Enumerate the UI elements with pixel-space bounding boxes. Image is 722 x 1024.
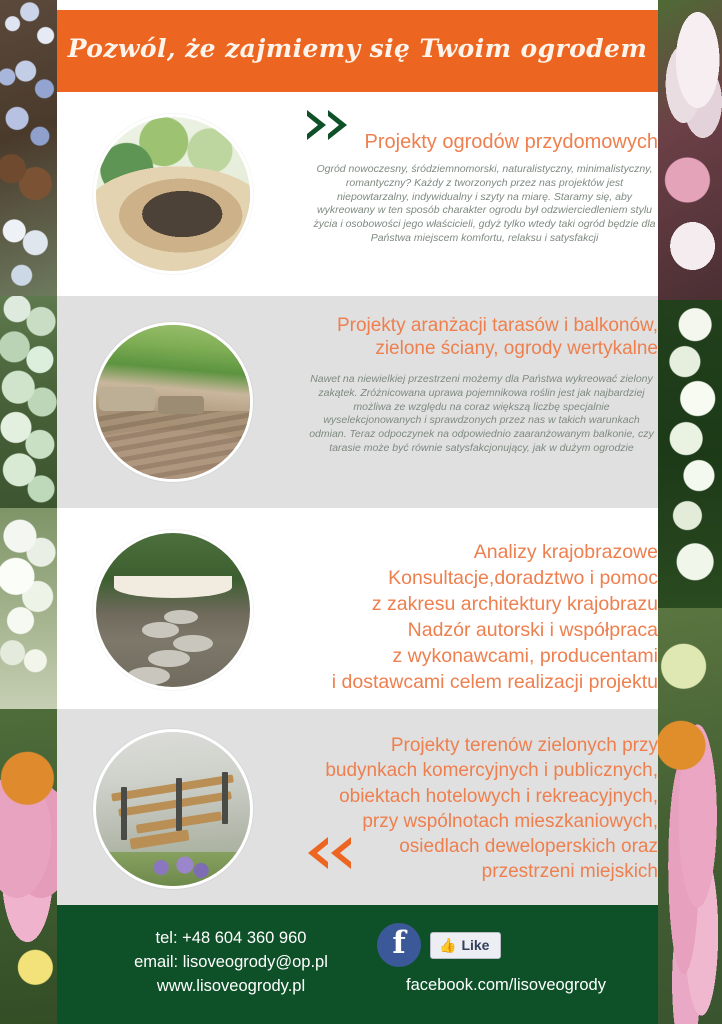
edge-photo-pink-echinacea [658, 608, 722, 1024]
facebook-url-text[interactable]: facebook.com/lisoveogrody [377, 976, 635, 995]
terraces-text-block: Projekty aranżacji tarasów i balkonów, z… [305, 314, 658, 455]
page-title: Pozwól, że zajmiemy się Twoim ogrodem [57, 10, 658, 92]
edge-photo-blue-hydrangea [0, 0, 57, 296]
phone-text: tel: +48 604 360 960 [91, 927, 371, 951]
content-column: Pozwól, że zajmiemy się Twoim ogrodem Pr… [57, 0, 658, 1024]
section-gardens: Projekty ogrodów przydomowych Ogród nowo… [57, 92, 658, 296]
section-commercial: Projekty terenów zielonych przy budynkac… [57, 709, 658, 905]
gardens-text-block: Projekty ogrodów przydomowych Ogród nowo… [311, 130, 658, 245]
edge-photo-white-flowers [0, 508, 57, 709]
footer-bar: tel: +48 604 360 960 email: lisoveogrody… [57, 905, 658, 1024]
header-bar: Pozwól, że zajmiemy się Twoim ogrodem [57, 10, 658, 92]
edge-photo-white-berries [658, 300, 722, 608]
section-analyses: Analizy krajobrazowe Konsultacje,doradzt… [57, 508, 658, 709]
facebook-block: f 👍 Like facebook.com/lisoveogrody [377, 923, 647, 995]
commercial-text-block: Projekty terenów zielonych przy budynkac… [293, 733, 658, 885]
thumbs-up-icon: 👍 [439, 937, 456, 954]
facebook-like-button[interactable]: 👍 Like [430, 932, 501, 959]
section-terraces: Projekty aranżacji tarasów i balkonów, z… [57, 296, 658, 508]
email-text[interactable]: email: lisoveogrody@op.pl [91, 951, 371, 975]
flyer-poster: Pozwól, że zajmiemy się Twoim ogrodem Pr… [0, 0, 722, 1024]
left-photo-edge [0, 0, 57, 1024]
contact-block: tel: +48 604 360 960 email: lisoveogrody… [91, 927, 371, 999]
website-text[interactable]: www.lisoveogrody.pl [91, 975, 371, 999]
terraces-body: Nawet na niewielkiej przestrzeni możemy … [305, 373, 658, 455]
facebook-icon[interactable]: f [377, 923, 421, 967]
hammock-stepping-stones-image [93, 530, 253, 690]
edge-photo-echinacea-bee [0, 709, 57, 1024]
terraces-heading: Projekty aranżacji tarasów i balkonów, z… [305, 314, 658, 360]
gardens-heading: Projekty ogrodów przydomowych [311, 130, 658, 154]
analyses-text-block: Analizy krajobrazowe Konsultacje,doradzt… [293, 540, 658, 696]
right-photo-edge [658, 0, 722, 1024]
garden-plan-watercolor-image [93, 114, 253, 274]
commercial-pergola-render-image [93, 729, 253, 889]
edge-photo-green-berries [0, 296, 57, 508]
commercial-heading: Projekty terenów zielonych przy budynkac… [293, 733, 658, 885]
analyses-heading: Analizy krajobrazowe Konsultacje,doradzt… [293, 540, 658, 696]
like-label: Like [461, 937, 489, 953]
edge-photo-magnolia [658, 0, 722, 300]
gardens-body: Ogród nowoczesny, śródziemnomorski, natu… [311, 163, 658, 245]
terrace-deck-image [93, 322, 253, 482]
